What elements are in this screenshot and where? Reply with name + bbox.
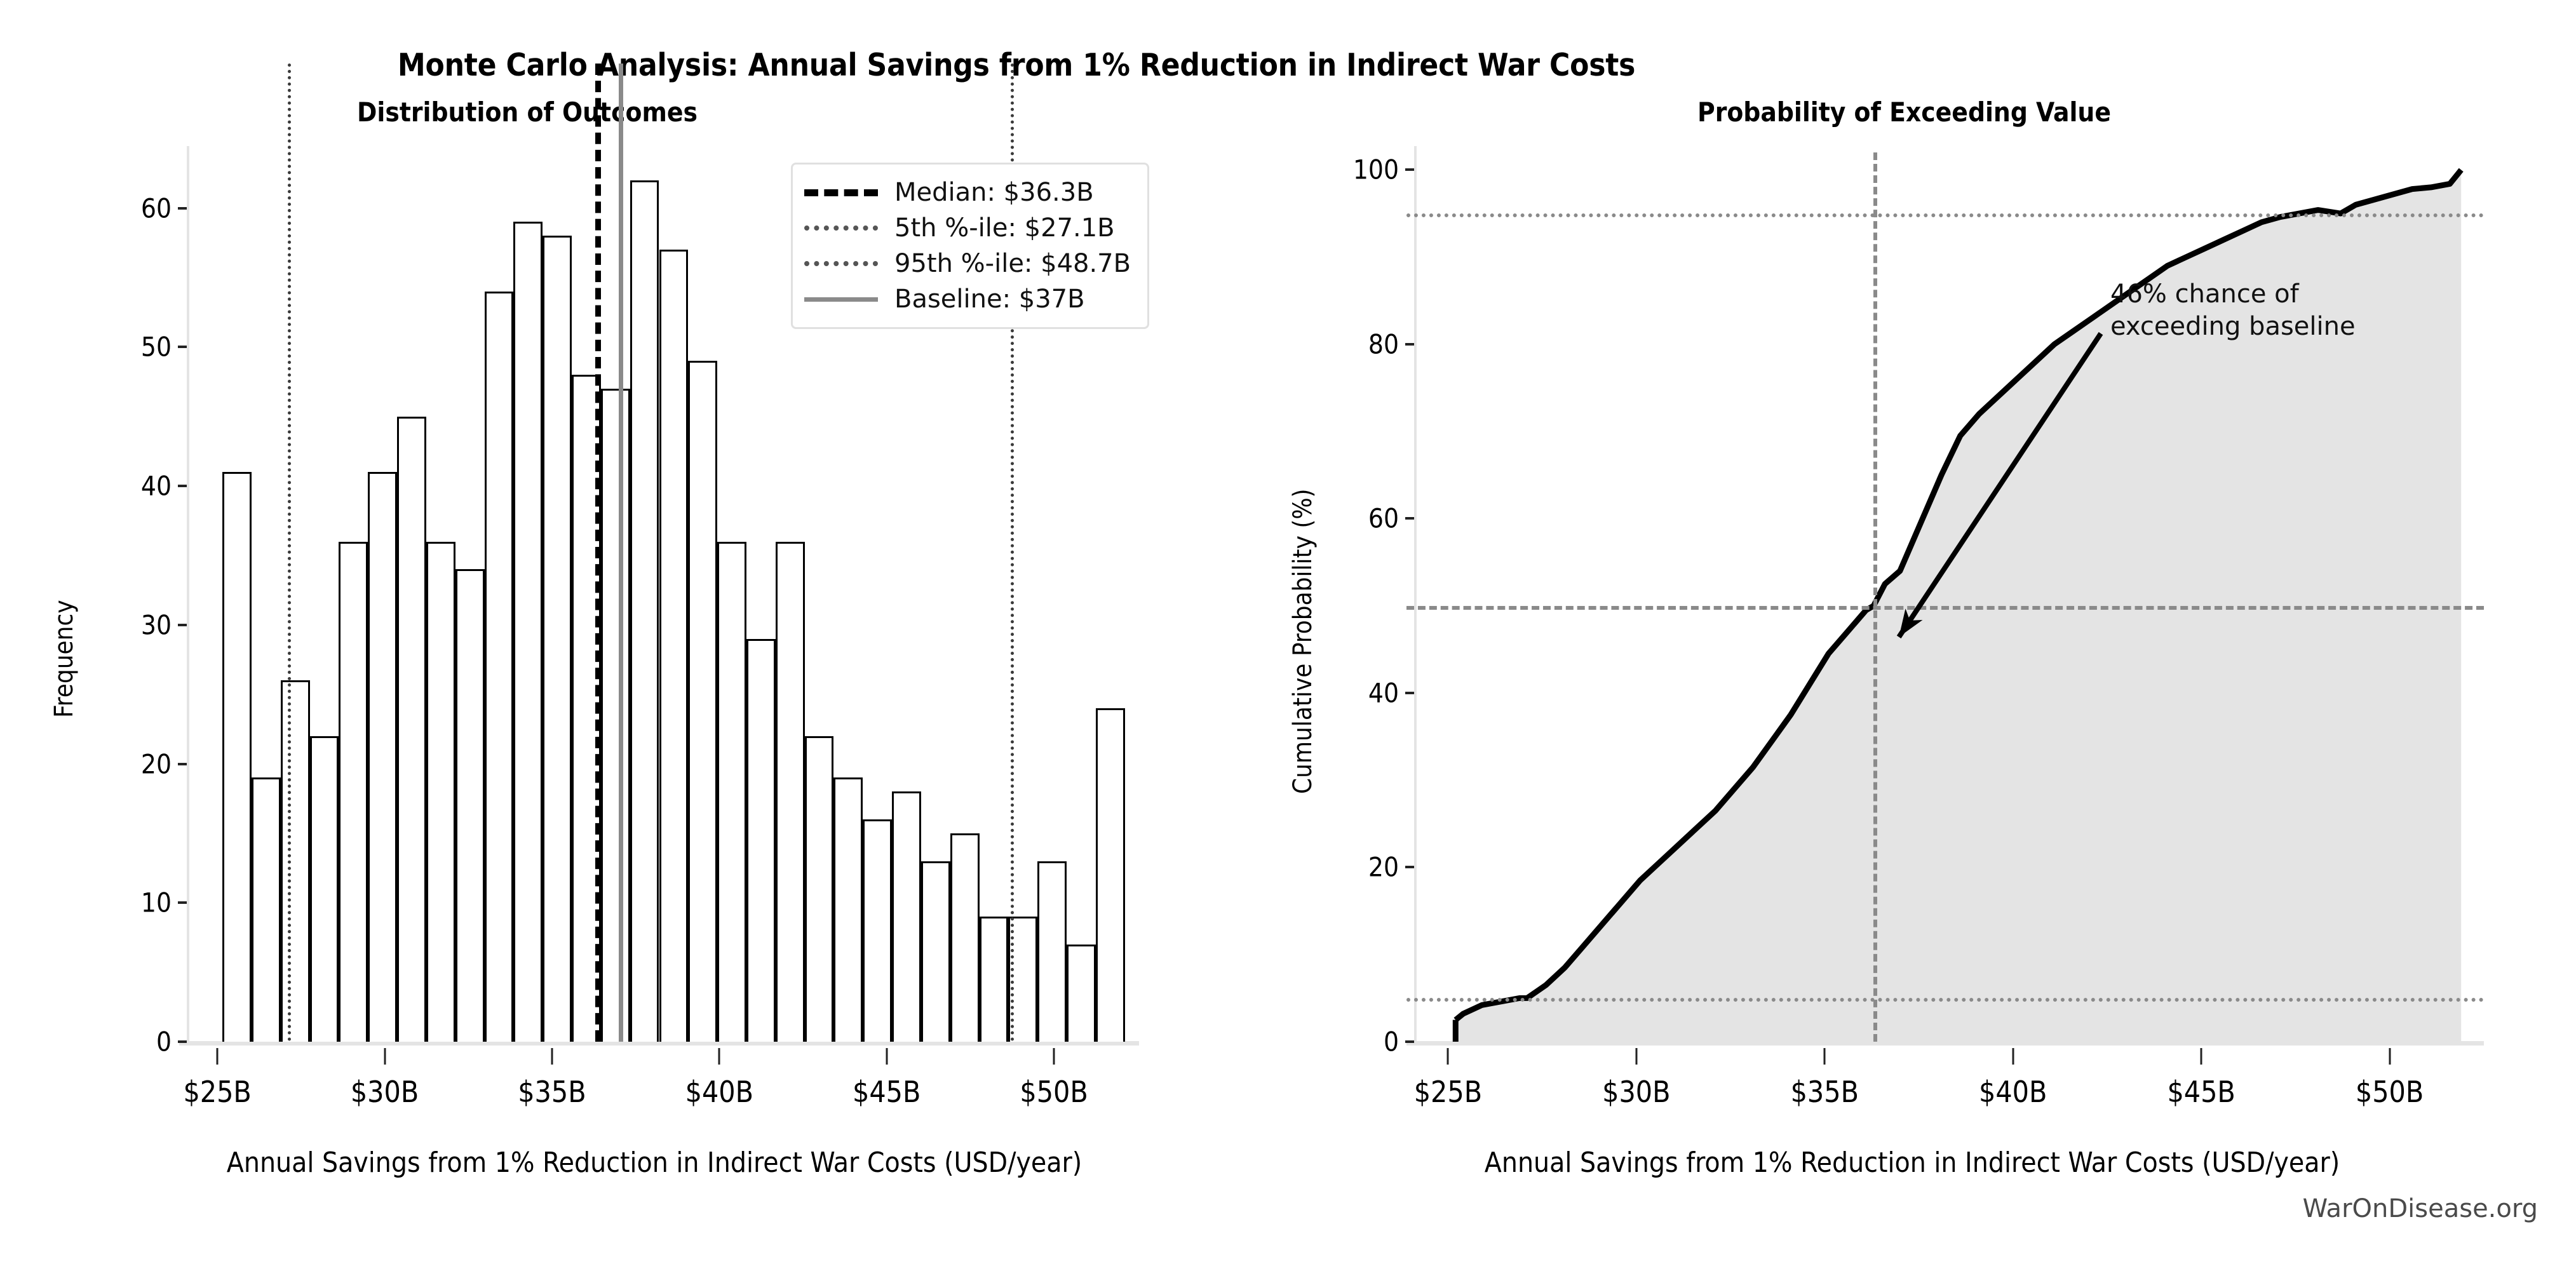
right-y-tick-mark bbox=[1405, 692, 1414, 694]
histogram-bar bbox=[485, 292, 514, 1042]
histogram-refline-p5 bbox=[288, 64, 291, 1042]
histogram-bar bbox=[310, 736, 339, 1042]
left-x-tick-label: $50B bbox=[1020, 1075, 1088, 1109]
left-x-tick-mark bbox=[886, 1048, 887, 1065]
left-y-tick-label: 50 bbox=[141, 332, 172, 363]
histogram-bar bbox=[1037, 861, 1067, 1042]
left-y-tick-mark bbox=[178, 346, 187, 348]
histogram-bar bbox=[950, 833, 980, 1042]
left-x-tick-mark bbox=[217, 1048, 219, 1065]
legend-item-median: Median: $36.3B bbox=[804, 175, 1131, 210]
left-x-tick-label: $40B bbox=[685, 1075, 753, 1109]
legend-key-median-icon bbox=[804, 189, 878, 196]
left-y-tick-label: 0 bbox=[156, 1026, 172, 1058]
histogram-bar bbox=[368, 472, 397, 1042]
histogram-plot-area: 0102030405060 $25B$30B$35B$40B$45B$50B M… bbox=[191, 152, 1128, 1042]
histogram-bar bbox=[630, 180, 659, 1042]
right-x-tick-mark bbox=[2012, 1048, 2014, 1065]
histogram-refline-median bbox=[595, 64, 601, 1042]
right-x-tick-mark bbox=[2201, 1048, 2202, 1065]
histogram-legend[interactable]: Median: $36.3B 5th %-ile: $27.1B 95th %-… bbox=[791, 163, 1149, 329]
right-plot-x-spine bbox=[1406, 1041, 2484, 1046]
left-y-tick-label: 10 bbox=[141, 887, 172, 918]
right-y-tick-label: 60 bbox=[1368, 503, 1399, 534]
right-panel-title: Probability of Exceeding Value bbox=[1258, 97, 2551, 128]
left-x-tick-label: $45B bbox=[853, 1075, 920, 1109]
right-x-tick-mark bbox=[1635, 1048, 1637, 1065]
histogram-bar bbox=[746, 639, 776, 1042]
histogram-bar bbox=[1067, 945, 1096, 1042]
watermark: WarOnDisease.org bbox=[2303, 1194, 2538, 1223]
legend-key-p5-icon bbox=[804, 225, 878, 231]
legend-label-median: Median: $36.3B bbox=[894, 178, 1094, 207]
legend-label-baseline: Baseline: $37B bbox=[894, 285, 1085, 314]
legend-key-p95-icon bbox=[804, 261, 878, 266]
histogram-bar bbox=[833, 777, 863, 1042]
left-panel: Distribution of Outcomes Frequency Annua… bbox=[0, 0, 1220, 1271]
left-y-tick-mark bbox=[178, 1040, 187, 1043]
left-y-tick-mark bbox=[178, 763, 187, 765]
legend-label-p95: 95th %-ile: $48.7B bbox=[894, 249, 1131, 278]
histogram-bar bbox=[513, 222, 543, 1042]
left-x-axis-label: Annual Savings from 1% Reduction in Indi… bbox=[95, 1147, 1213, 1179]
histogram-bar bbox=[426, 542, 455, 1042]
legend-item-p95: 95th %-ile: $48.7B bbox=[804, 246, 1131, 281]
left-x-tick-label: $35B bbox=[518, 1075, 586, 1109]
legend-label-p5: 5th %-ile: $27.1B bbox=[894, 213, 1115, 243]
legend-key-baseline-icon bbox=[804, 297, 878, 302]
left-y-tick-label: 40 bbox=[141, 471, 172, 502]
histogram-bar bbox=[397, 417, 426, 1042]
right-x-tick-mark bbox=[1824, 1048, 1826, 1065]
histogram-bar bbox=[805, 736, 834, 1042]
histogram-bar bbox=[776, 542, 805, 1042]
left-y-tick-label: 30 bbox=[141, 609, 172, 640]
right-y-tick-mark bbox=[1405, 517, 1414, 520]
right-y-tick-label: 40 bbox=[1368, 677, 1399, 708]
left-x-tick-mark bbox=[718, 1048, 720, 1065]
histogram-bar bbox=[252, 777, 281, 1042]
right-x-tick-mark bbox=[2389, 1048, 2391, 1065]
right-y-tick-mark bbox=[1405, 343, 1414, 346]
histogram-bar bbox=[1096, 708, 1125, 1042]
left-y-tick-mark bbox=[178, 485, 187, 487]
cdf-annotation-text: 46% chance of exceeding baseline bbox=[2110, 278, 2356, 343]
histogram-bar bbox=[717, 542, 746, 1042]
right-plot-y-spine bbox=[1414, 146, 1417, 1046]
left-y-tick-label: 20 bbox=[141, 748, 172, 779]
left-x-tick-mark bbox=[384, 1048, 386, 1065]
left-y-tick-mark bbox=[178, 207, 187, 210]
histogram-bar bbox=[601, 389, 630, 1042]
left-y-tick-label: 60 bbox=[141, 192, 172, 224]
left-plot-y-spine bbox=[187, 146, 189, 1046]
histogram-bar bbox=[688, 361, 717, 1042]
histogram-refline-baseline bbox=[619, 64, 623, 1042]
legend-item-baseline: Baseline: $37B bbox=[804, 281, 1131, 317]
left-x-tick-mark bbox=[1053, 1048, 1055, 1065]
right-y-tick-label: 100 bbox=[1353, 154, 1399, 185]
histogram-bar bbox=[281, 680, 310, 1042]
cdf-plot-area: 46% chance of exceeding baseline 0204060… bbox=[1418, 152, 2472, 1042]
right-x-tick-label: $50B bbox=[2356, 1075, 2424, 1109]
histogram-bar bbox=[921, 861, 950, 1042]
histogram-bar bbox=[659, 250, 689, 1042]
histogram-bar bbox=[455, 569, 485, 1042]
left-y-axis-label: Frequency bbox=[50, 600, 79, 718]
left-x-tick-label: $30B bbox=[351, 1075, 419, 1109]
histogram-bar bbox=[863, 819, 892, 1042]
left-panel-title: Distribution of Outcomes bbox=[0, 97, 1137, 128]
right-y-tick-mark bbox=[1405, 1040, 1414, 1043]
right-y-tick-label: 80 bbox=[1368, 328, 1399, 360]
left-y-tick-mark bbox=[178, 624, 187, 626]
left-x-tick-label: $25B bbox=[183, 1075, 251, 1109]
right-x-tick-mark bbox=[1447, 1048, 1449, 1065]
right-x-tick-label: $35B bbox=[1791, 1075, 1859, 1109]
right-y-tick-label: 0 bbox=[1384, 1026, 1399, 1058]
right-x-tick-label: $25B bbox=[1414, 1075, 1482, 1109]
right-y-axis-label: Cumulative Probability (%) bbox=[1288, 488, 1318, 794]
histogram-bar bbox=[892, 791, 921, 1042]
histogram-bar bbox=[543, 236, 572, 1042]
right-y-tick-label: 20 bbox=[1368, 852, 1399, 883]
histogram-bar bbox=[339, 542, 368, 1042]
right-x-axis-label: Annual Savings from 1% Reduction in Indi… bbox=[1309, 1147, 2516, 1179]
legend-item-p5: 5th %-ile: $27.1B bbox=[804, 210, 1131, 246]
right-x-tick-label: $45B bbox=[2167, 1075, 2235, 1109]
right-y-tick-mark bbox=[1405, 168, 1414, 171]
right-y-tick-mark bbox=[1405, 866, 1414, 868]
left-y-tick-mark bbox=[178, 901, 187, 904]
right-x-tick-label: $30B bbox=[1602, 1075, 1670, 1109]
left-x-tick-mark bbox=[551, 1048, 553, 1065]
right-x-tick-label: $40B bbox=[1979, 1075, 2047, 1109]
histogram-bar bbox=[980, 917, 1009, 1042]
histogram-bar bbox=[222, 472, 252, 1042]
left-plot-x-spine bbox=[179, 1041, 1139, 1046]
